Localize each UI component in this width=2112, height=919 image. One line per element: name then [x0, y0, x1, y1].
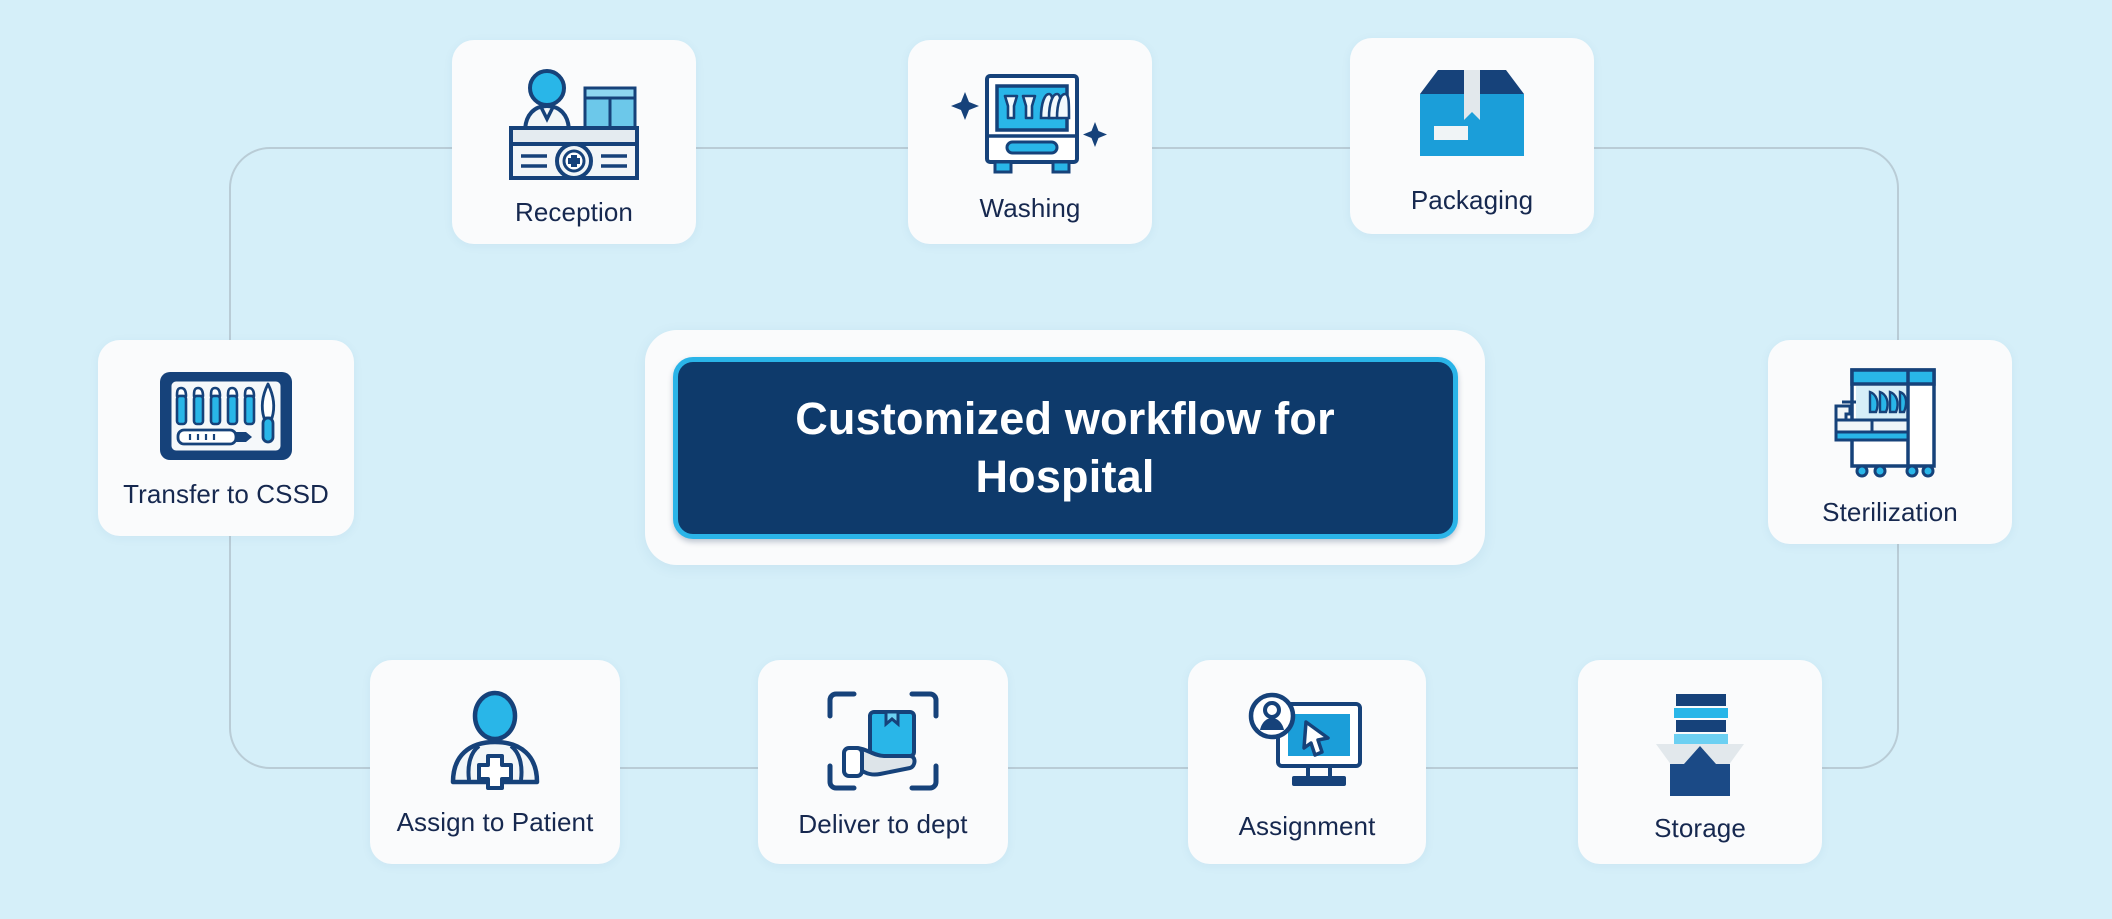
instrument-tray-icon	[154, 364, 298, 466]
patient-person-icon	[435, 690, 555, 794]
monitor-user-cursor-icon	[1242, 686, 1372, 798]
center-title-line2: Hospital	[975, 451, 1154, 502]
step-card-sterilization[interactable]: Sterilization	[1768, 340, 2012, 544]
step-label-deliver-to-dept: Deliver to dept	[798, 810, 967, 840]
step-card-storage[interactable]: Storage	[1578, 660, 1822, 864]
step-card-washing[interactable]: Washing	[908, 40, 1152, 244]
step-label-assignment: Assignment	[1239, 812, 1376, 842]
reception-desk-icon	[499, 62, 649, 184]
step-card-assign-to-patient[interactable]: Assign to Patient	[370, 660, 620, 864]
step-label-reception: Reception	[515, 198, 633, 228]
storage-box-icon	[1640, 688, 1760, 802]
center-panel: Customized workflow for Hospital	[673, 357, 1458, 539]
workflow-diagram: Reception	[0, 0, 2112, 919]
step-card-deliver-to-dept[interactable]: Deliver to dept	[758, 660, 1008, 864]
sterilizer-cabinet-icon	[1826, 362, 1954, 482]
step-card-packaging[interactable]: Packaging	[1350, 38, 1594, 234]
step-label-transfer-to-cssd: Transfer to CSSD	[123, 480, 329, 510]
step-label-sterilization: Sterilization	[1822, 498, 1958, 528]
step-card-reception[interactable]: Reception	[452, 40, 696, 244]
step-label-assign-to-patient: Assign to Patient	[397, 808, 594, 838]
step-card-transfer-to-cssd[interactable]: Transfer to CSSD	[98, 340, 354, 536]
package-box-icon	[1412, 64, 1532, 172]
washing-machine-icon	[945, 64, 1115, 182]
center-title-line1: Customized workflow for	[795, 393, 1335, 444]
center-card: Customized workflow for Hospital	[645, 330, 1485, 565]
center-title: Customized workflow for Hospital	[765, 390, 1365, 505]
step-card-assignment[interactable]: Assignment	[1188, 660, 1426, 864]
step-label-packaging: Packaging	[1411, 186, 1533, 216]
step-label-washing: Washing	[980, 194, 1081, 224]
hand-holding-package-icon	[822, 686, 944, 796]
step-label-storage: Storage	[1654, 814, 1746, 844]
